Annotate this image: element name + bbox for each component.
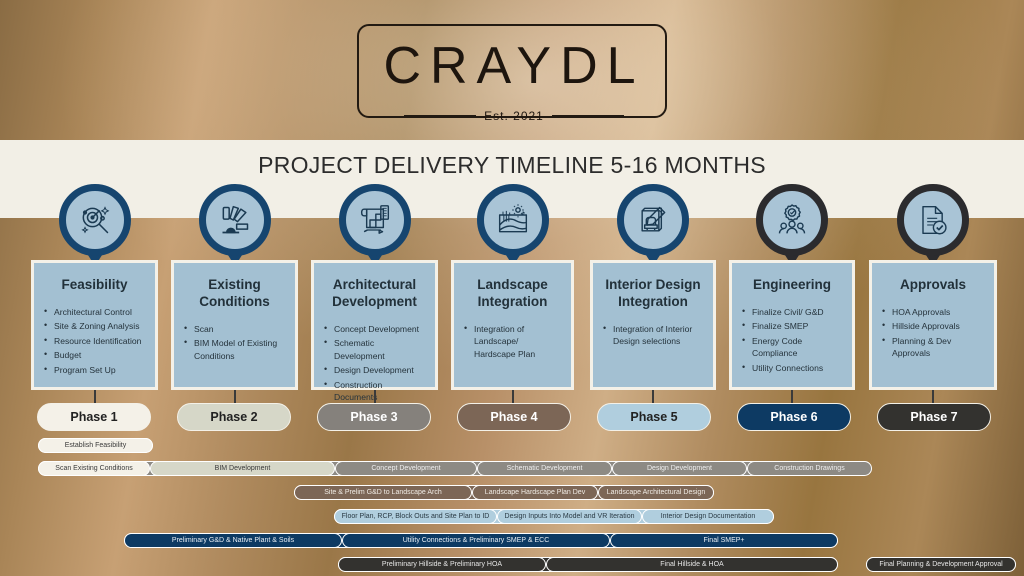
phase-card-title: Interior Design Integration bbox=[603, 277, 703, 311]
approved-document-icon bbox=[897, 184, 969, 256]
logo-frame: CRAYDL Est. 2021 bbox=[357, 24, 667, 118]
established-row: Est. 2021 bbox=[359, 107, 669, 125]
phase-column-7: ApprovalsHOA ApprovalsHillside Approvals… bbox=[869, 184, 997, 262]
phase-column-2: Existing ConditionsScanBIM Model of Exis… bbox=[171, 184, 298, 262]
gantt-task[interactable]: Design Inputs Into Model and VR Iteratio… bbox=[497, 509, 642, 524]
target-magnifier-icon bbox=[59, 184, 131, 256]
scan-site-icon bbox=[199, 184, 271, 256]
phase-card-list: ScanBIM Model of Existing Conditions bbox=[184, 323, 285, 362]
blueprint-icon bbox=[339, 184, 411, 256]
phase-card-list: Finalize Civil/ G&DFinalize SMEPEnergy C… bbox=[742, 306, 842, 374]
phase-card-5[interactable]: Interior Design IntegrationIntegration o… bbox=[590, 260, 716, 390]
phase-card-item: Finalize SMEP bbox=[742, 320, 842, 332]
gantt-task[interactable]: BIM Development bbox=[150, 461, 335, 476]
gantt-task[interactable]: Landscape Hardscape Plan Dev bbox=[472, 485, 598, 500]
gantt-task[interactable]: Preliminary Hillside & Preliminary HOA bbox=[338, 557, 546, 572]
phase-card-title: Existing Conditions bbox=[184, 277, 285, 311]
rule-left bbox=[404, 115, 476, 117]
gantt-task[interactable]: Final SMEP+ bbox=[610, 533, 838, 548]
phase-card-4[interactable]: Landscape IntegrationIntegration of Land… bbox=[451, 260, 574, 390]
phase-badge-3 bbox=[311, 184, 438, 262]
timeline-infographic: CRAYDL Est. 2021 PROJECT DELIVERY TIMELI… bbox=[0, 0, 1024, 576]
phase-column-5: Interior Design IntegrationIntegration o… bbox=[590, 184, 716, 262]
phase-column-6: EngineeringFinalize Civil/ G&DFinalize S… bbox=[729, 184, 855, 262]
gantt-task[interactable]: Design Development bbox=[612, 461, 747, 476]
phase-card-item: Integration of Landscape/ Hardscape Plan bbox=[464, 323, 561, 360]
phase-card-7[interactable]: ApprovalsHOA ApprovalsHillside Approvals… bbox=[869, 260, 997, 390]
phase-card-title: Architectural Development bbox=[324, 277, 425, 311]
phase-card-item: HOA Approvals bbox=[882, 306, 984, 318]
phase-card-title: Feasibility bbox=[44, 277, 145, 294]
phase-card-list: Integration of Landscape/ Hardscape Plan bbox=[464, 323, 561, 360]
phase-badge-7 bbox=[869, 184, 997, 262]
page-title: PROJECT DELIVERY TIMELINE 5-16 MONTHS bbox=[0, 152, 1024, 179]
phase-card-title: Engineering bbox=[742, 277, 842, 294]
phase-badge-4 bbox=[451, 184, 574, 262]
phase-card-title: Approvals bbox=[882, 277, 984, 294]
phase-card-item: Design Development bbox=[324, 364, 425, 376]
phase-card-1[interactable]: FeasibilityArchitectural ControlSite & Z… bbox=[31, 260, 158, 390]
phase-card-6[interactable]: EngineeringFinalize Civil/ G&DFinalize S… bbox=[729, 260, 855, 390]
gantt-task[interactable]: Floor Plan, RCP, Block Outs and Site Pla… bbox=[334, 509, 497, 524]
phase-pill-3[interactable]: Phase 3 bbox=[317, 403, 431, 431]
gantt-task[interactable]: Site & Prelim G&D to Landscape Arch bbox=[294, 485, 472, 500]
gantt-task[interactable]: Landscape Architectural Design bbox=[598, 485, 714, 500]
gantt-task[interactable]: Establish Feasibility bbox=[38, 438, 153, 453]
phase-pill-4[interactable]: Phase 4 bbox=[457, 403, 571, 431]
gantt-task[interactable]: Concept Development bbox=[335, 461, 477, 476]
phase-column-3: Architectural DevelopmentConcept Develop… bbox=[311, 184, 438, 262]
phase-card-item: Budget bbox=[44, 349, 145, 361]
brand-wordmark: CRAYDL bbox=[359, 36, 669, 96]
established-label: Est. 2021 bbox=[484, 109, 544, 123]
phase-card-item: Utility Connections bbox=[742, 362, 842, 374]
phase-card-item: BIM Model of Existing Conditions bbox=[184, 337, 285, 362]
gantt-task[interactable]: Final Planning & Development Approval bbox=[866, 557, 1016, 572]
phase-column-1: FeasibilityArchitectural ControlSite & Z… bbox=[31, 184, 158, 262]
phase-pill-2[interactable]: Phase 2 bbox=[177, 403, 291, 431]
gantt-task[interactable]: Scan Existing Conditions bbox=[38, 461, 150, 476]
phase-card-item: Hillside Approvals bbox=[882, 320, 984, 332]
phase-card-item: Energy Code Compliance bbox=[742, 335, 842, 360]
phase-column-4: Landscape IntegrationIntegration of Land… bbox=[451, 184, 574, 262]
phase-card-list: Integration of Interior Design selection… bbox=[603, 323, 703, 348]
phase-card-item: Scan bbox=[184, 323, 285, 335]
brand-header: CRAYDL Est. 2021 bbox=[0, 0, 1024, 140]
phase-pill-5[interactable]: Phase 5 bbox=[597, 403, 711, 431]
gantt-task[interactable]: Schematic Development bbox=[477, 461, 612, 476]
gantt-task[interactable]: Final Hillside & HOA bbox=[546, 557, 838, 572]
phase-pill-7[interactable]: Phase 7 bbox=[877, 403, 991, 431]
phase-card-item: Finalize Civil/ G&D bbox=[742, 306, 842, 318]
phase-card-item: Architectural Control bbox=[44, 306, 145, 318]
phase-badge-5 bbox=[590, 184, 716, 262]
phase-card-item: Program Set Up bbox=[44, 364, 145, 376]
gantt-task[interactable]: Preliminary G&D & Native Plant & Soils bbox=[124, 533, 342, 548]
phase-card-item: Planning & Dev Approvals bbox=[882, 335, 984, 360]
phase-pill-6[interactable]: Phase 6 bbox=[737, 403, 851, 431]
phase-card-title: Landscape Integration bbox=[464, 277, 561, 311]
gantt-task[interactable]: Interior Design Documentation bbox=[642, 509, 774, 524]
landscape-icon bbox=[477, 184, 549, 256]
phase-card-3[interactable]: Architectural DevelopmentConcept Develop… bbox=[311, 260, 438, 390]
phase-card-item: Resource Identification bbox=[44, 335, 145, 347]
phase-card-list: HOA ApprovalsHillside ApprovalsPlanning … bbox=[882, 306, 984, 360]
phase-badge-6 bbox=[729, 184, 855, 262]
phase-card-2[interactable]: Existing ConditionsScanBIM Model of Exis… bbox=[171, 260, 298, 390]
phase-card-list: Architectural ControlSite & Zoning Analy… bbox=[44, 306, 145, 376]
gear-team-icon bbox=[756, 184, 828, 256]
phase-card-item: Integration of Interior Design selection… bbox=[603, 323, 703, 348]
gantt-task[interactable]: Construction Drawings bbox=[747, 461, 872, 476]
phase-badge-1 bbox=[31, 184, 158, 262]
phase-card-item: Schematic Development bbox=[324, 337, 425, 362]
phase-card-item: Concept Development bbox=[324, 323, 425, 335]
interior-sketch-icon bbox=[617, 184, 689, 256]
rule-right bbox=[552, 115, 624, 117]
phase-badge-2 bbox=[171, 184, 298, 262]
gantt-task[interactable]: Utility Connections & Preliminary SMEP &… bbox=[342, 533, 610, 548]
phase-card-item: Site & Zoning Analysis bbox=[44, 320, 145, 332]
phase-pill-1[interactable]: Phase 1 bbox=[37, 403, 151, 431]
